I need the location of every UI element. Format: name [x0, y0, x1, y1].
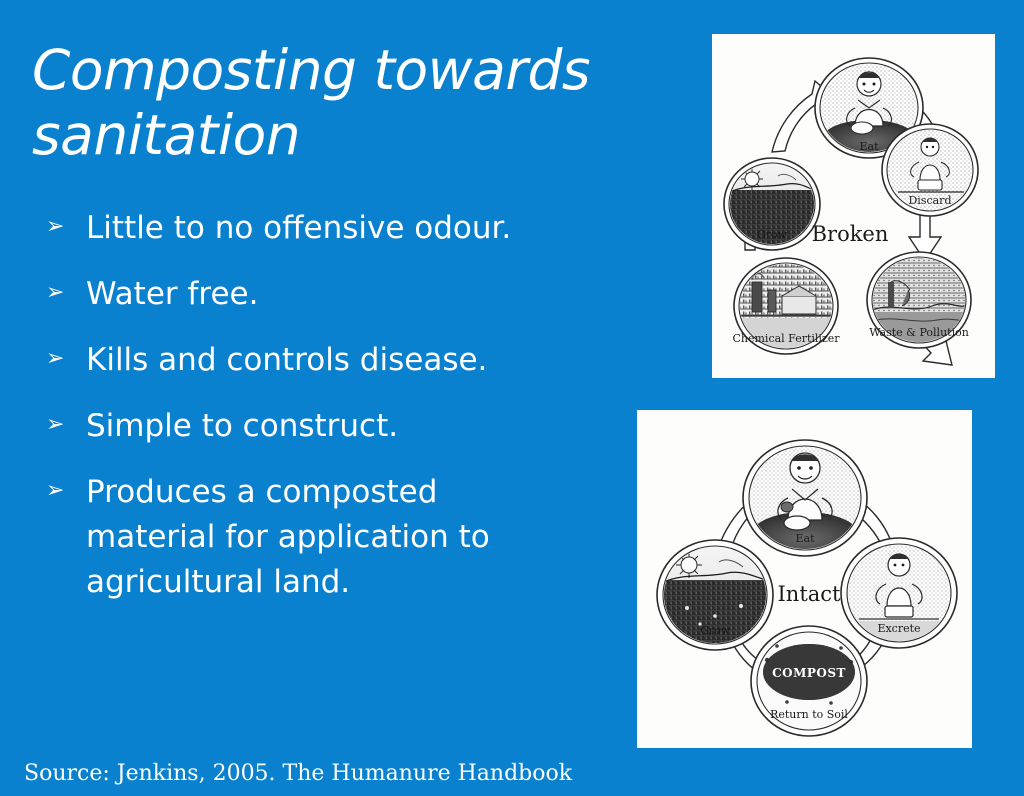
source-citation: Source: Jenkins, 2005. The Humanure Hand…	[24, 760, 572, 788]
list-item-label-line2: material for application to	[44, 515, 644, 560]
node-label-grow: Grow	[700, 624, 731, 637]
node-waste-pollution: Waste & Pollution	[867, 252, 971, 348]
node-label-discard: Discard	[908, 194, 951, 207]
list-item: ➢ Kills and controls disease.	[44, 338, 644, 383]
node-label-excrete: Excrete	[877, 622, 920, 635]
bullet-list: ➢ Little to no offensive odour. ➢ Water …	[44, 206, 644, 605]
list-item: ➢ Simple to construct.	[44, 404, 644, 449]
node-label-chemical-fertilizer: Chemical Fertilizer	[732, 332, 840, 345]
bullet-arrow-icon: ➢	[46, 402, 64, 447]
compost-label: COMPOST	[772, 666, 846, 680]
node-label-eat: Eat	[859, 140, 879, 153]
list-item-label: Kills and controls disease.	[86, 338, 644, 383]
node-grow: Grow	[724, 158, 820, 250]
list-item: ➢ Water free.	[44, 272, 644, 317]
list-item-label: Simple to construct.	[86, 404, 644, 449]
broken-cycle-diagram: Eat Grow	[712, 34, 995, 378]
figure-center-label-intact: Intact	[778, 582, 842, 606]
list-item-label: Produces a composted	[86, 470, 644, 515]
list-item-label: Water free.	[86, 272, 644, 317]
intact-cycle-diagram: Eat	[637, 410, 972, 748]
bullet-arrow-icon: ➢	[46, 270, 64, 315]
page-title: Composting towards sanitation	[32, 38, 692, 168]
node-grow: Grow	[657, 540, 773, 650]
list-item-label-line3: agricultural land.	[44, 560, 644, 605]
node-discard: Discard	[882, 124, 978, 216]
bullet-arrow-icon: ➢	[46, 468, 64, 513]
figure-broken-cycle: Eat Grow	[712, 34, 995, 378]
slide-canvas: Composting towards sanitation ➢ Little t…	[0, 0, 1024, 796]
node-excrete: Excrete	[841, 538, 957, 648]
figure-intact-cycle: Eat	[637, 410, 972, 748]
node-return-to-soil: COMPOST Return to Soil	[751, 626, 867, 736]
bullet-arrow-icon: ➢	[46, 204, 64, 249]
list-item-label: Little to no offensive odour.	[86, 206, 644, 251]
list-item: ➢ Little to no offensive odour.	[44, 206, 644, 251]
node-label-return-to-soil: Return to Soil	[770, 708, 848, 721]
bullet-arrow-icon: ➢	[46, 336, 64, 381]
list-item: ➢ Produces a composted material for appl…	[44, 470, 644, 605]
node-label-waste-pollution: Waste & Pollution	[869, 326, 969, 339]
node-eat: Eat	[743, 440, 867, 556]
node-label-grow: Grow	[757, 228, 788, 241]
figure-center-label-broken: Broken	[812, 222, 889, 246]
node-label-eat: Eat	[795, 532, 815, 545]
node-chemical-fertilizer: Chemical Fertilizer	[732, 258, 840, 354]
